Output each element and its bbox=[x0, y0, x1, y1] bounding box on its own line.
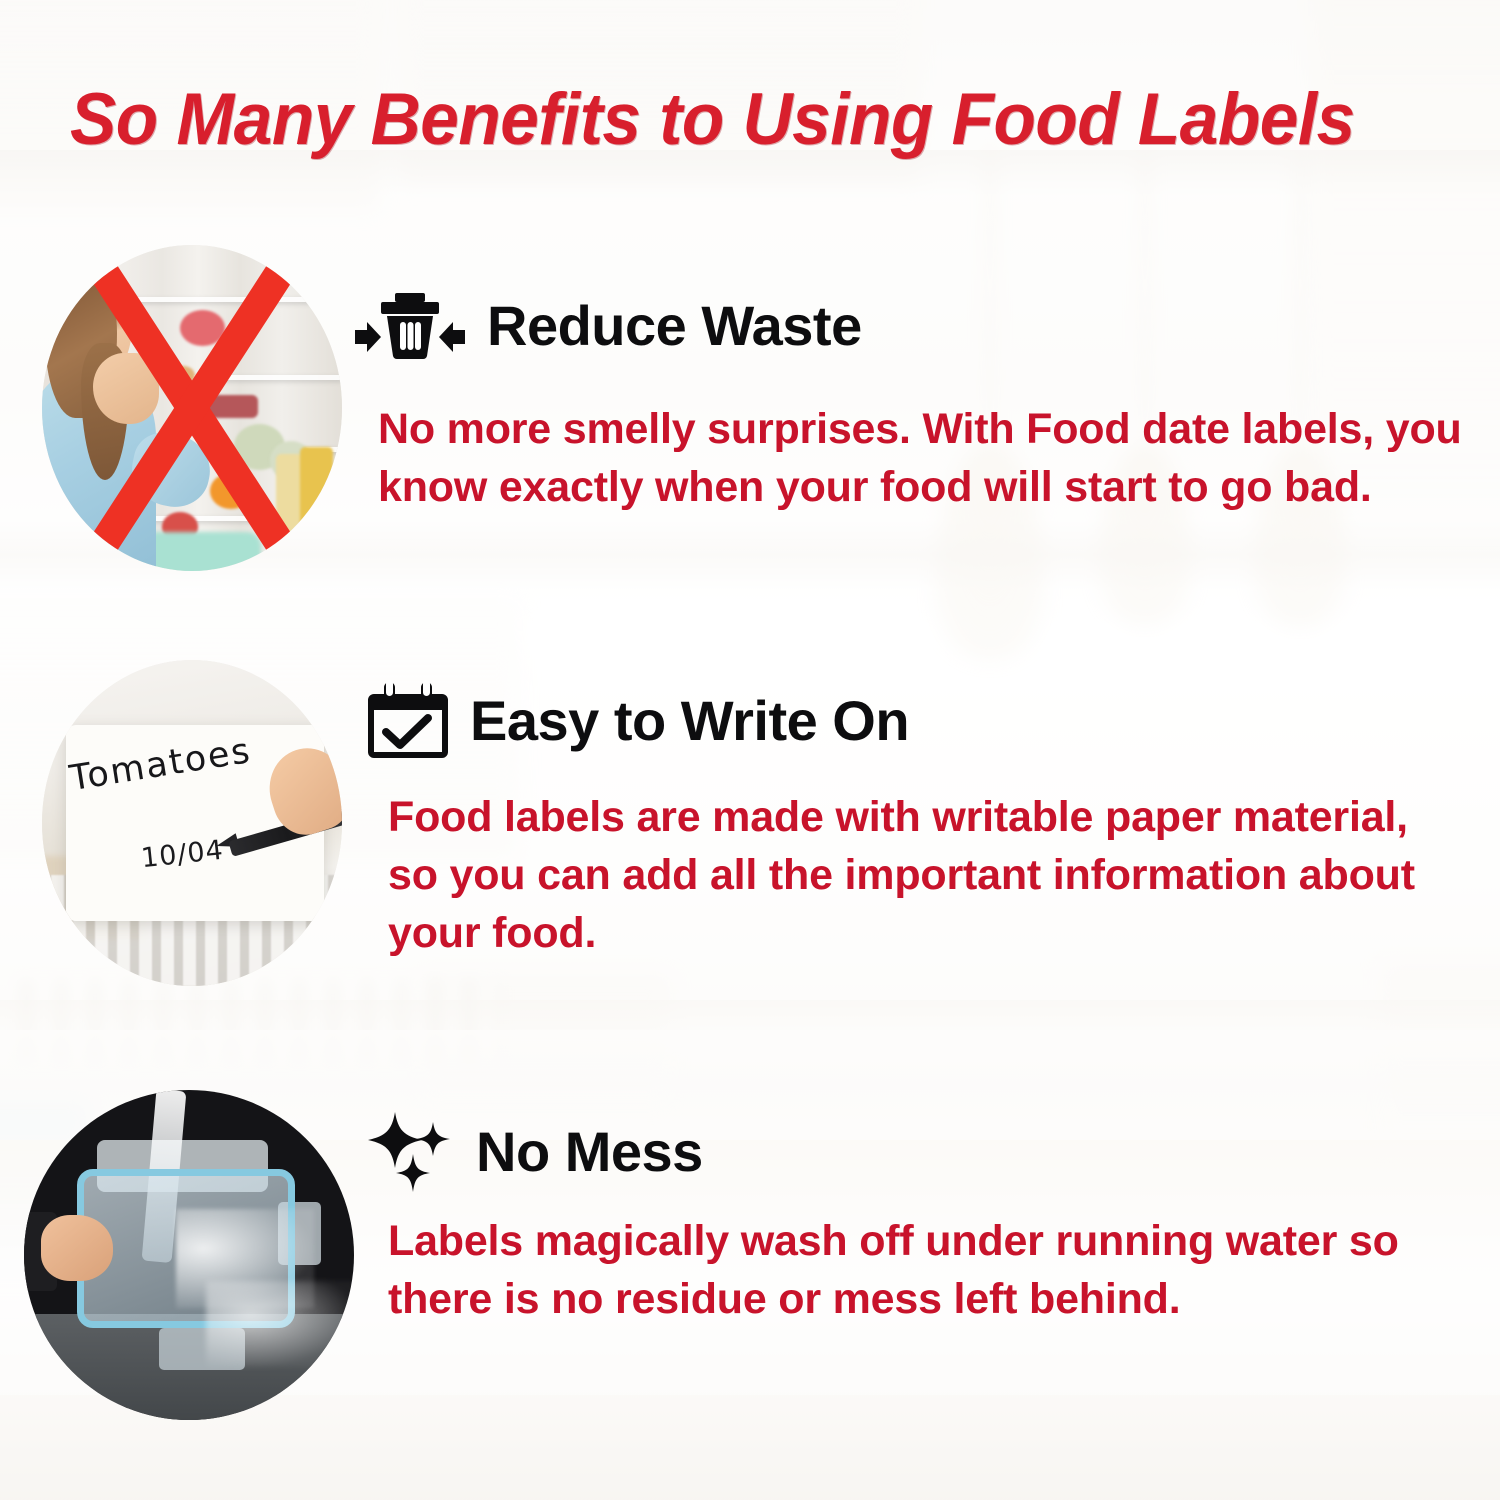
red-x-overlay-icon bbox=[42, 245, 342, 571]
page-title: So Many Benefits to Using Food Labels bbox=[70, 78, 1372, 161]
benefit-image-easy-to-write-on: Tomatoes 10/04 bbox=[42, 660, 342, 986]
sparkles-icon bbox=[368, 1108, 454, 1194]
benefit-image-reduce-waste bbox=[42, 245, 342, 571]
benefit-heading: Easy to Write On bbox=[470, 688, 909, 753]
calendar-check-icon bbox=[368, 680, 448, 760]
trash-reduce-icon bbox=[355, 290, 465, 360]
benefit-body: No more smelly surprises. With Food date… bbox=[378, 400, 1468, 516]
benefit-body: Labels magically wash off under running … bbox=[388, 1212, 1428, 1328]
benefit-heading: Reduce Waste bbox=[487, 293, 862, 358]
infographic-canvas: So Many Benefits to Using Food Labels bbox=[0, 0, 1500, 1500]
benefit-body: Food labels are made with writable paper… bbox=[388, 788, 1463, 962]
benefit-image-no-mess bbox=[24, 1090, 354, 1420]
benefit-heading: No Mess bbox=[476, 1119, 703, 1184]
